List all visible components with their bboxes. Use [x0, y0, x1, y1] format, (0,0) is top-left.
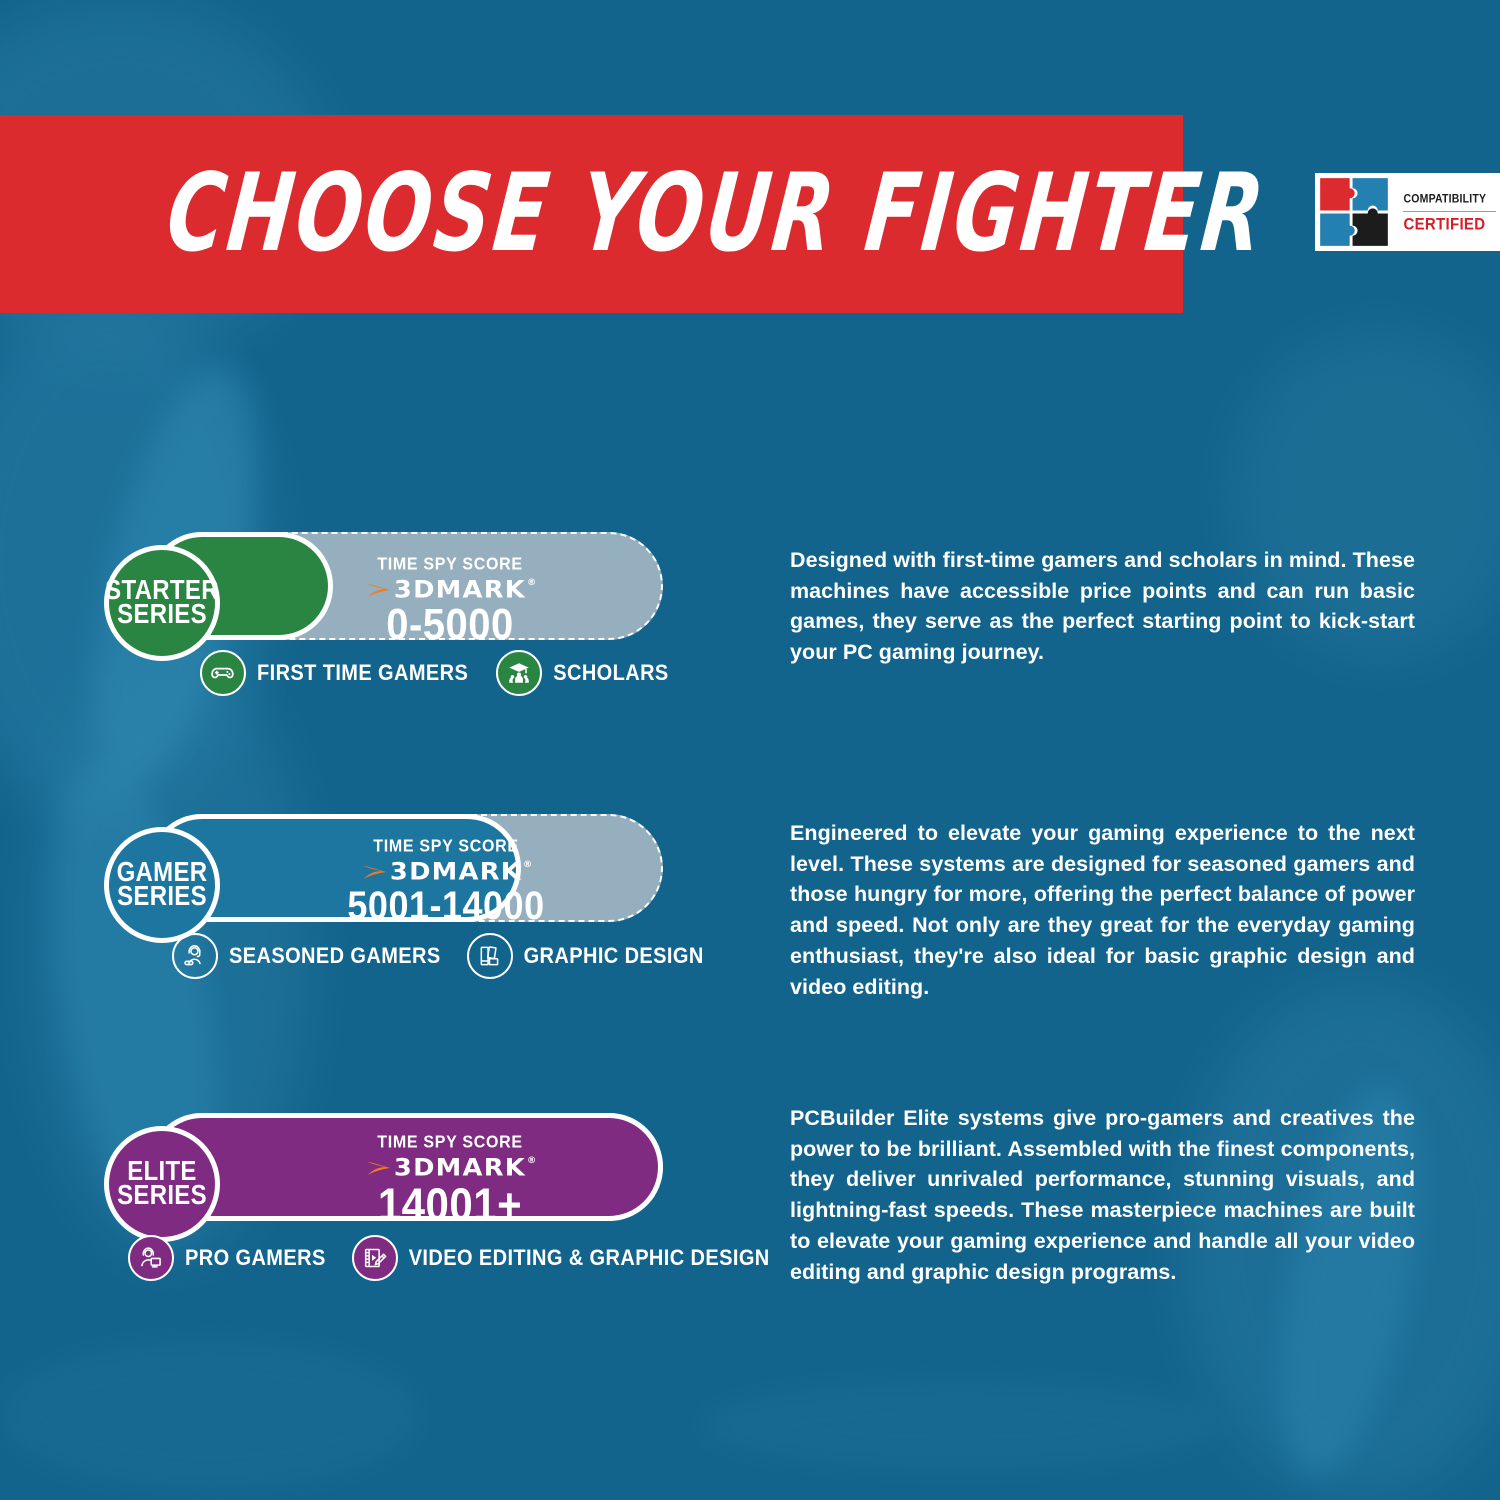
score-caption: TIME SPY SCORE [377, 1134, 523, 1152]
badge-divider [1403, 211, 1496, 212]
series-badge-starter[interactable]: STARTER SERIES [104, 545, 220, 661]
tag-first-time-gamers[interactable]: FIRST TIME GAMERS [200, 650, 468, 696]
score-caption: TIME SPY SCORE [377, 556, 523, 574]
page-title: CHOOSE YOUR FIGHTER [162, 160, 1271, 268]
3dmark-swoosh-icon [366, 580, 392, 600]
score-value-gamer: 5001-14000 [347, 885, 544, 926]
certified-label: CERTIFIED [1403, 216, 1485, 233]
tag-label: SEASONED GAMERS [229, 945, 441, 968]
tag-video-editing-graphic-design[interactable]: VIDEO EDITING & GRAPHIC DESIGN [352, 1235, 770, 1281]
tag-seasoned-gamers[interactable]: SEASONED GAMERS [172, 933, 441, 979]
graduation-scholars-icon [496, 650, 542, 696]
3dmark-wordmark: 3DMARK® [394, 1156, 537, 1180]
film-pencil-icon [352, 1235, 398, 1281]
3dmark-logo: 3DMARK® [362, 859, 530, 884]
series-badge-line2: SERIES [117, 883, 207, 911]
series-badge-line2: SERIES [117, 601, 207, 629]
series-badge-elite[interactable]: ELITE SERIES [104, 1126, 220, 1242]
series-description-elite: PCBuilder Elite systems give pro-gamers … [790, 1103, 1415, 1287]
3dmark-swoosh-icon [362, 862, 388, 882]
compatibility-label: COMPATIBILITY [1403, 194, 1486, 206]
tag-label: VIDEO EDITING & GRAPHIC DESIGN [409, 1247, 770, 1270]
tag-row-elite: PRO GAMERS VIDEO EDITING & GRAPHIC DESIG… [128, 1235, 770, 1281]
3dmark-logo: 3DMARK® [366, 1155, 534, 1180]
header-bar: CHOOSE YOUR FIGHTER COMPATIBILITY CERTIF… [0, 115, 1183, 313]
compatibility-certified-badge: COMPATIBILITY CERTIFIED [1315, 173, 1500, 251]
tag-row-starter: FIRST TIME GAMERS SCHOLARS [200, 650, 669, 696]
series-badge-line2: SERIES [117, 1182, 207, 1210]
compatibility-text-box: COMPATIBILITY CERTIFIED [1393, 173, 1500, 251]
headset-gamer-icon [172, 933, 218, 979]
3dmark-swoosh-icon [366, 1158, 392, 1178]
tag-label: GRAPHIC DESIGN [524, 945, 704, 968]
tag-label: PRO GAMERS [185, 1247, 326, 1270]
3dmark-logo: 3DMARK® [366, 577, 534, 602]
score-block-gamer: TIME SPY SCORE 3DMARK® 5001-14000 [326, 839, 566, 924]
tag-scholars[interactable]: SCHOLARS [496, 650, 668, 696]
series-description-starter: Designed with first-time gamers and scho… [790, 545, 1415, 668]
score-value-starter: 0-5000 [386, 603, 514, 649]
tag-row-gamer: SEASONED GAMERS GRAPHIC DESIGN [172, 933, 704, 979]
tag-pro-gamers[interactable]: PRO GAMERS [128, 1235, 326, 1281]
infographic-canvas: CHOOSE YOUR FIGHTER COMPATIBILITY CERTIF… [0, 0, 1500, 1500]
tag-graphic-design[interactable]: GRAPHIC DESIGN [467, 933, 704, 979]
score-value-elite: 14001+ [378, 1181, 522, 1229]
3dmark-wordmark: 3DMARK® [394, 578, 537, 602]
3dmark-wordmark: 3DMARK® [390, 860, 533, 884]
series-description-gamer: Engineered to elevate your gaming experi… [790, 818, 1415, 1002]
puzzle-piece-icon [1315, 173, 1393, 251]
score-block-starter: TIME SPY SCORE 3DMARK® 0-5000 [330, 557, 570, 647]
gamepad-icon [200, 650, 246, 696]
tag-label: FIRST TIME GAMERS [257, 662, 468, 685]
series-badge-gamer[interactable]: GAMER SERIES [104, 827, 220, 943]
pro-gamer-monitor-icon [128, 1235, 174, 1281]
color-swatch-icon [467, 933, 513, 979]
score-caption: TIME SPY SCORE [373, 838, 519, 856]
tag-label: SCHOLARS [553, 662, 668, 685]
score-block-elite: TIME SPY SCORE 3DMARK® 14001+ [330, 1135, 570, 1227]
